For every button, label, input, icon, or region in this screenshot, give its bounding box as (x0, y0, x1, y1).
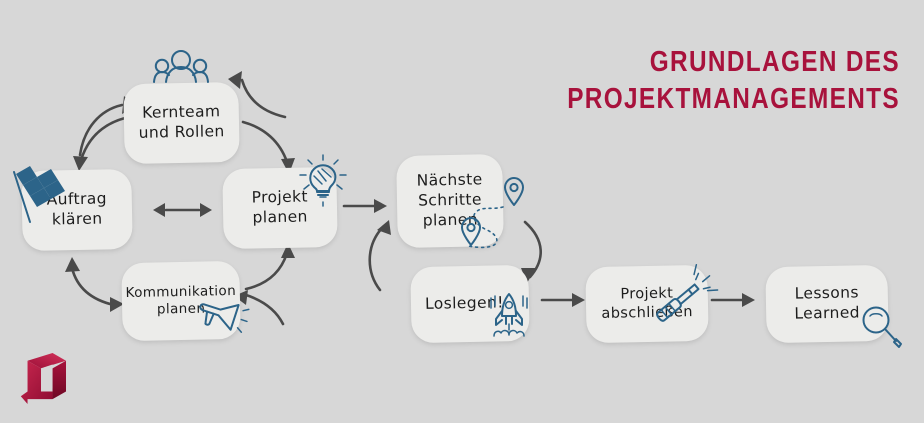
map-pin-icon (462, 178, 523, 247)
magnifier-icon (864, 308, 902, 348)
diagram-canvas: GRUNDLAGEN DES PROJEKTMANAGEMENTS (0, 0, 924, 423)
people-group-icon (154, 51, 208, 82)
megaphone-icon (196, 294, 251, 336)
logo-right-face (53, 361, 66, 399)
lightbulb-icon (300, 155, 346, 206)
checkered-flag-icon (14, 152, 65, 222)
node-icons (0, 0, 924, 423)
brand-logo[interactable] (16, 352, 66, 404)
logo-inner-cut (41, 365, 53, 389)
champagne-bottle-icon (648, 263, 720, 331)
rocket-icon (491, 294, 527, 336)
